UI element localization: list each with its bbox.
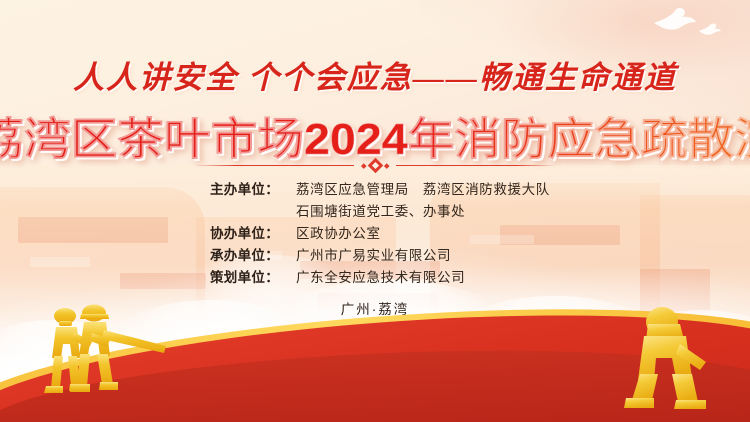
organizer-value: 石围塘街道党工委、办事处: [296, 202, 465, 221]
organizer-value: 广东全安应急技术有限公司: [296, 268, 465, 287]
organizer-value: 广州市广易实业有限公司: [296, 246, 451, 265]
organizer-row: 协办单位： 区政协办公室: [210, 224, 540, 243]
organizer-label: 承办单位：: [210, 246, 296, 265]
poster-subtitle: 人人讲安全 个个会应急——畅通生命通道: [0, 52, 750, 97]
decorative-divider: [0, 160, 750, 171]
organizer-value: 荔湾区应急管理局 荔湾区消防救援大队: [296, 180, 550, 199]
bottom-ribbon: [0, 307, 750, 422]
divider-line-left: [194, 165, 354, 167]
ornament-dot-right: [384, 163, 389, 168]
organizer-row: 策划单位： 广东全安应急技术有限公司: [210, 268, 540, 287]
divider-line-right: [396, 165, 556, 167]
ornament-dot-left: [361, 163, 366, 168]
poster-canvas: 人人讲安全 个个会应急——畅通生命通道 荔湾区茶叶市场2024年消防应急疏散演练…: [0, 0, 750, 422]
organizer-value: 区政协办公室: [296, 224, 381, 243]
ornament-diamond: [367, 158, 383, 174]
organizer-list: 主办单位： 荔湾区应急管理局 荔湾区消防救援大队 石围塘街道党工委、办事处 协办…: [0, 180, 750, 287]
organizer-row: 承办单位： 广州市广易实业有限公司: [210, 246, 540, 265]
organizer-label: 协办单位：: [210, 224, 296, 243]
organizer-label: 策划单位：: [210, 268, 296, 287]
organizer-row: 主办单位： 荔湾区应急管理局 荔湾区消防救援大队: [210, 180, 540, 199]
diamond-ornament-icon: [354, 160, 396, 171]
organizer-row-continuation: 石围塘街道党工委、办事处: [210, 202, 540, 221]
organizer-label: 主办单位：: [210, 180, 296, 199]
